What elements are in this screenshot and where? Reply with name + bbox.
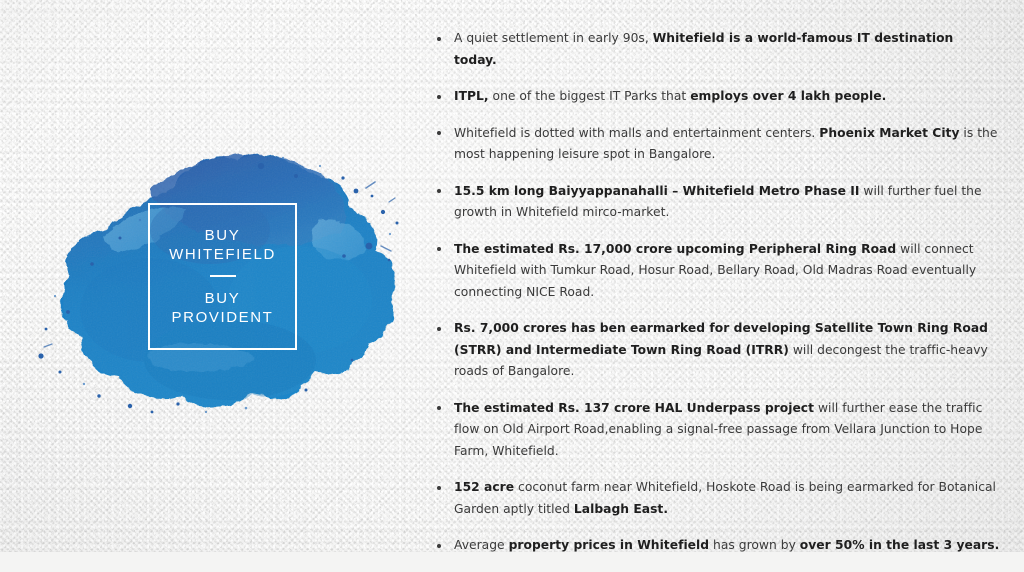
bullet-text-run: one of the biggest IT Parks that (489, 89, 691, 103)
badge-divider-rule (210, 275, 236, 277)
bullet-item-hal-underpass: The estimated Rs. 137 crore HAL Underpas… (430, 398, 1000, 463)
bullet-text-run: 152 acre (454, 480, 514, 494)
bullet-item-phoenix-market-city: Whitefield is dotted with malls and ente… (430, 123, 1000, 166)
buy-whitefield-badge: BUY WHITEFIELD BUY PROVIDENT (148, 203, 297, 350)
badge-line-4: PROVIDENT (172, 308, 274, 327)
bullet-text-run: over 50% in the last 3 years. (800, 538, 1000, 552)
bullet-item-it-destination: A quiet settlement in early 90s, Whitefi… (430, 28, 1000, 71)
bullet-item-itpl: ITPL, one of the biggest IT Parks that e… (430, 86, 1000, 108)
badge-line-3: BUY (205, 289, 241, 308)
badge-line-1: BUY (205, 226, 241, 245)
bullet-text-run: 15.5 km long Baiyyappanahalli – Whitefie… (454, 184, 859, 198)
bullet-text-run: The estimated Rs. 137 crore HAL Underpas… (454, 401, 814, 415)
bullet-item-peripheral-ring-road: The estimated Rs. 17,000 crore upcoming … (430, 239, 1000, 304)
bullet-text-run: Whitefield is dotted with malls and ente… (454, 126, 819, 140)
bullet-text-run: property prices in Whitefield (509, 538, 710, 552)
badge-line-2: WHITEFIELD (169, 245, 276, 264)
bullet-item-property-prices: Average property prices in Whitefield ha… (430, 535, 1000, 557)
bullet-text-run: Phoenix Market City (819, 126, 959, 140)
bullet-text-run: employs over 4 lakh people. (690, 89, 886, 103)
bullet-item-lalbagh-east: 152 acre coconut farm near Whitefield, H… (430, 477, 1000, 520)
bullet-text-run: has grown by (709, 538, 800, 552)
bullet-text-run: The estimated Rs. 17,000 crore upcoming … (454, 242, 896, 256)
bullet-text-run: Average (454, 538, 509, 552)
bullet-item-metro-phase-2: 15.5 km long Baiyyappanahalli – Whitefie… (430, 181, 1000, 224)
bullet-text-run: Lalbagh East. (574, 502, 668, 516)
bullet-item-strr-itrr: Rs. 7,000 crores has ben earmarked for d… (430, 318, 1000, 383)
bullet-text-run: A quiet settlement in early 90s, (454, 31, 653, 45)
bullet-text-run: coconut farm near Whitefield, Hoskote Ro… (454, 480, 996, 516)
highlights-list: A quiet settlement in early 90s, Whitefi… (430, 28, 1000, 572)
bullet-text-run: ITPL, (454, 89, 489, 103)
